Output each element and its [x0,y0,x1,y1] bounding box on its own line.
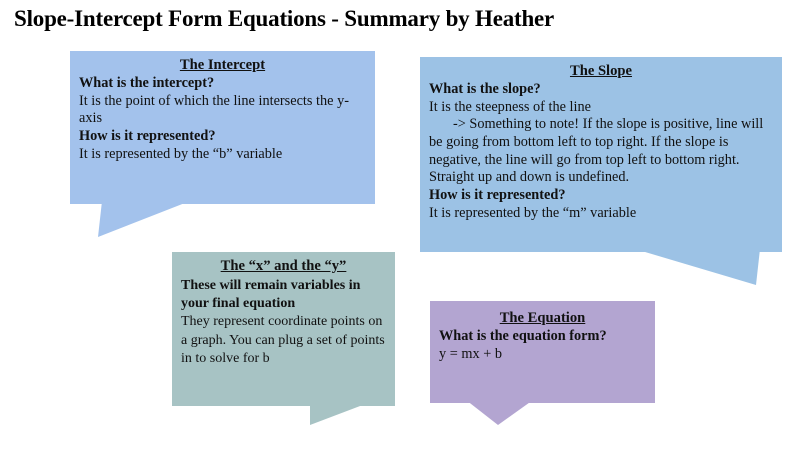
page-title: Slope-Intercept Form Equations - Summary… [14,6,784,32]
callout-slope-line-2: It is the steepness of the line [429,99,773,117]
callout-equation-line-1: What is the equation form? [439,328,646,346]
callout-intercept-line-2: It is the point of which the line inters… [79,93,366,128]
callout-intercept-line-4: It is represented by the “b” variable [79,146,366,164]
callout-slope[interactable]: The Slope What is the slope? It is the s… [420,57,782,252]
callout-slope-line-3: -> Something to note! If the slope is po… [429,116,773,187]
callout-intercept-content: The Intercept What is the intercept? It … [70,51,375,167]
callout-xy-heading: The “x” and the “y” [181,257,386,276]
callout-slope-content: The Slope What is the slope? It is the s… [420,57,782,226]
callout-intercept-line-3: How is it represented? [79,128,366,146]
callout-intercept[interactable]: The Intercept What is the intercept? It … [70,51,375,204]
callout-slope-heading: The Slope [429,62,773,80]
slide-canvas: Slope-Intercept Form Equations - Summary… [0,0,800,450]
callout-intercept-heading: The Intercept [79,56,366,74]
callout-equation-heading: The Equation [439,309,646,327]
callout-intercept-line-1: What is the intercept? [79,75,366,93]
callout-xy[interactable]: The “x” and the “y” These will remain va… [172,252,395,406]
callout-equation[interactable]: The Equation What is the equation form? … [430,301,655,403]
callout-slope-line-4: How is it represented? [429,187,773,205]
callout-xy-line-2: They represent coordinate points on a gr… [181,313,386,368]
callout-equation-content: The Equation What is the equation form? … [430,301,655,367]
callout-slope-line-1: What is the slope? [429,81,773,99]
callout-xy-content: The “x” and the “y” These will remain va… [172,252,395,372]
callout-xy-line-1: These will remain variables in your fina… [181,277,386,313]
callout-slope-line-5: It is represented by the “m” variable [429,205,773,223]
callout-equation-line-2: y = mx + b [439,346,646,364]
